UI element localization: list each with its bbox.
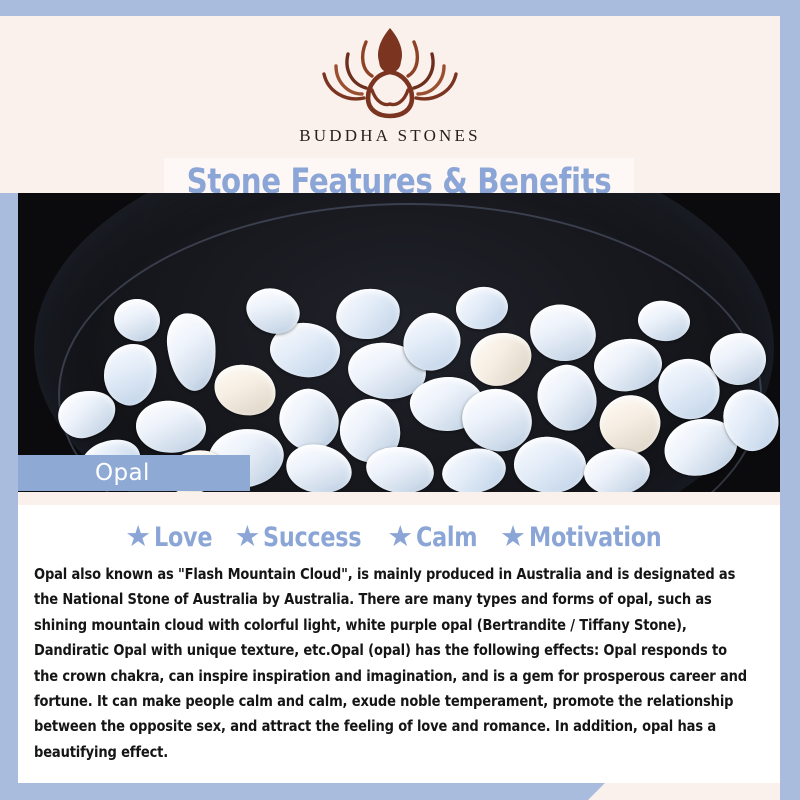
benefits-row: ★ Love ★ Success ★ Calm ★ Motivation: [18, 517, 780, 557]
star-icon: ★: [387, 523, 413, 552]
description-text: Opal also known as "Flash Mountain Cloud…: [34, 562, 748, 765]
benefit-label: Love: [154, 522, 212, 553]
star-icon: ★: [125, 523, 151, 552]
brand-logo: BUDDHA STONES: [0, 20, 780, 146]
benefit-love: ★ Love: [125, 522, 217, 553]
left-accent-bar: [0, 193, 18, 800]
bottom-accent-bar: [0, 783, 628, 800]
brand-name: BUDDHA STONES: [0, 126, 780, 146]
star-icon: ★: [234, 523, 260, 552]
stone-name-bar: Opal: [18, 455, 250, 491]
panel-top-strip: [18, 492, 780, 505]
benefit-label: Motivation: [529, 522, 661, 553]
benefit-motivation: ★ Motivation: [500, 522, 673, 553]
star-icon: ★: [500, 523, 526, 552]
infographic-page: BUDDHA STONES Stone Features & Benefits: [0, 0, 800, 800]
benefit-label: Success: [263, 522, 361, 553]
top-accent-bar: [0, 0, 800, 16]
benefit-success: ★ Success: [234, 522, 370, 553]
lotus-meditation-figure-icon: [302, 20, 478, 124]
stone-name: Opal: [18, 455, 250, 491]
benefit-calm: ★ Calm: [387, 522, 483, 553]
benefit-label: Calm: [416, 522, 477, 553]
opal-stones-cluster: [18, 193, 780, 492]
right-accent-bar: [780, 0, 800, 800]
product-photo: Opal: [18, 193, 780, 492]
header-section: BUDDHA STONES Stone Features & Benefits: [0, 16, 780, 193]
